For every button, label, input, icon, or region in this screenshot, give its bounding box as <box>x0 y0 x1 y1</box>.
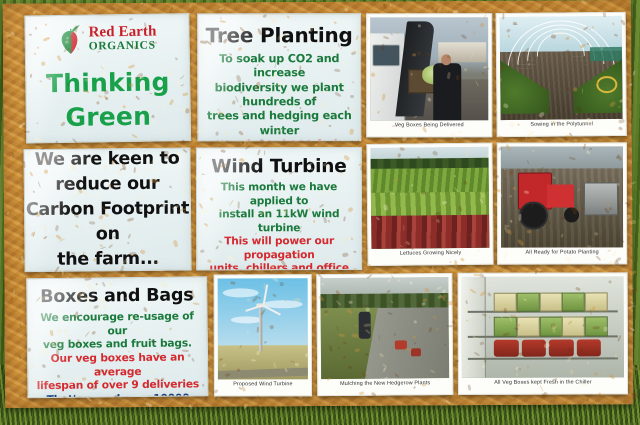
board-texture-flake <box>7 37 11 41</box>
board-texture-flake <box>132 11 134 13</box>
board-texture-flake <box>19 394 21 396</box>
board-texture-flake <box>11 31 15 35</box>
sign-tree-planting: Tree Planting To soak up CO2 and increas… <box>197 13 361 141</box>
board-texture-flake <box>586 397 590 401</box>
board-texture-flake <box>567 399 573 405</box>
board-texture-flake <box>19 354 24 358</box>
thinking-green-headline: Thinking Green <box>26 65 190 135</box>
photo-caption: All Veg Boxes kept Fresh in the Chiller <box>458 377 628 388</box>
photo-tractor-image <box>501 146 623 247</box>
board-texture-flake <box>188 4 192 8</box>
board-texture-flake <box>131 399 135 405</box>
board-texture-flake <box>445 400 451 405</box>
notice-board: Red Earth ORGANICS Thinking Green Tree P… <box>3 0 633 408</box>
board-texture-flake <box>592 265 595 268</box>
photo-veg-boxes-delivery: Veg Boxes Being Delivered <box>366 13 492 137</box>
photo-caption: Sowing in the Polytunnel <box>496 119 627 131</box>
board-texture-flake <box>122 273 124 276</box>
photo-proposed-wind-turbine: Proposed Wind Turbine <box>214 274 312 396</box>
board-texture-flake <box>8 229 11 231</box>
board-texture-flake <box>537 267 542 271</box>
board-texture-flake <box>54 401 57 403</box>
board-texture-flake <box>434 400 436 403</box>
board-texture-flake <box>5 168 8 171</box>
board-texture-flake <box>9 68 12 72</box>
wind-turbine-title: Wind Turbine <box>200 156 358 177</box>
wind-turbine-line-1: This month we have applied to <box>200 181 358 209</box>
board-texture-flake <box>440 266 445 271</box>
headline-line-2: Green <box>27 99 190 135</box>
board-texture-flake <box>58 143 63 148</box>
board-texture-flake <box>390 3 392 7</box>
sign-wind-turbine: Wind Turbine This month we have applied … <box>196 147 362 270</box>
board-texture-flake <box>526 137 528 139</box>
photo-caption: Mulching the New Hedgerow Plants <box>316 378 453 390</box>
board-texture-flake <box>98 400 103 404</box>
board-texture-flake <box>581 0 588 6</box>
board-texture-flake <box>493 23 495 28</box>
photo-lettuces: Lettuces Growing Nicely <box>366 143 493 266</box>
board-texture-flake <box>482 265 488 267</box>
photo-caption: All Ready for Potato Planting <box>497 247 627 258</box>
photo-hedgerow-mulching: Mulching the New Hedgerow Plants <box>316 273 453 396</box>
board-texture-flake <box>504 265 507 269</box>
photo-polytunnel-image <box>500 16 623 120</box>
board-texture-flake <box>219 7 224 10</box>
boxes-line-5: That's saved over 10000 boxes <box>32 391 203 398</box>
photo-hedge-image <box>320 277 449 379</box>
photo-polytunnel-sowing: Sowing in the Polytunnel <box>496 12 627 137</box>
board-texture-flake <box>454 137 457 140</box>
photo-lettuces-image <box>370 147 489 249</box>
board-texture-flake <box>113 2 116 8</box>
board-texture-flake <box>265 402 271 406</box>
board-texture-flake <box>556 396 563 400</box>
scene: Red Earth ORGANICS Thinking Green Tree P… <box>0 0 640 425</box>
board-texture-flake <box>19 122 26 128</box>
sign-boxes-and-bags: Boxes and Bags We encourage re-usage of … <box>26 276 208 398</box>
board-texture-flake <box>5 35 11 38</box>
board-texture-flake <box>428 137 434 143</box>
board-texture-flake <box>7 211 10 214</box>
carbon-line-3: Carbon Footprint on <box>25 197 190 248</box>
tree-planting-line-1: To soak up CO2 and increase <box>202 52 356 81</box>
board-texture-flake <box>18 355 21 359</box>
board-texture-flake <box>385 10 387 12</box>
tree-planting-line-4: We planted 100 fruit trees in a <box>202 138 356 141</box>
board-texture-flake <box>13 289 15 295</box>
board-texture-flake <box>505 267 512 272</box>
board-texture-flake <box>11 152 14 158</box>
board-texture-flake <box>458 3 464 6</box>
photo-caption: Lettuces Growing Nicely <box>366 247 493 259</box>
logo-wordmark: Red Earth ORGANICS <box>88 25 156 54</box>
board-texture-flake <box>6 387 10 390</box>
photo-potato-planting: All Ready for Potato Planting <box>497 142 627 264</box>
board-texture-flake <box>448 396 452 400</box>
board-texture-flake <box>139 2 144 7</box>
board-texture-flake <box>110 7 115 10</box>
board-texture-flake <box>312 315 315 318</box>
photo-turbine-image <box>218 278 308 379</box>
tree-planting-title: Tree Planting <box>202 23 356 47</box>
board-texture-flake <box>540 5 545 12</box>
carbon-line-2: reduce our <box>25 172 190 198</box>
board-texture-flake <box>215 397 218 401</box>
board-texture-flake <box>191 9 195 15</box>
logo-brand-green: ORGANICS <box>89 41 157 54</box>
photo-caption: Proposed Wind Turbine <box>214 379 312 389</box>
board-texture-flake <box>435 396 438 398</box>
headline-line-1: Thinking <box>26 65 189 101</box>
board-texture-flake <box>239 142 241 145</box>
boxes-line-3: Our veg boxes have an average <box>32 350 203 379</box>
wind-turbine-line-2: install an 11kW wind turbine <box>200 208 358 236</box>
wind-turbine-line-4: units, chillers and office <box>200 262 358 270</box>
boxes-and-bags-title: Boxes and Bags <box>31 285 202 307</box>
board-texture-flake <box>431 266 434 272</box>
board-texture-flake <box>382 3 388 10</box>
photo-chiller-image <box>462 276 624 378</box>
carbon-footprint-text: We are keen to reduce our Carbon Footpri… <box>24 147 190 272</box>
board-texture-flake <box>565 138 569 141</box>
boxes-line-1: We encourage re-usage of our <box>32 309 203 338</box>
photo-caption: Veg Boxes Being Delivered <box>366 120 492 130</box>
board-texture-flake <box>21 81 24 86</box>
board-texture-flake <box>10 296 14 300</box>
red-earth-organics-logo: Red Earth ORGANICS <box>25 23 188 55</box>
wind-turbine-line-3: This will power our propagation <box>200 235 358 263</box>
sign-thinking-green: Red Earth ORGANICS Thinking Green <box>24 13 191 143</box>
carbon-line-1: We are keen to <box>24 147 189 173</box>
board-texture-flake <box>6 39 11 46</box>
board-texture-flake <box>34 11 36 14</box>
board-texture-flake <box>455 400 459 403</box>
board-texture-flake <box>20 323 23 329</box>
board-texture-flake <box>151 4 155 7</box>
tree-planting-line-2: biodiversity we plant hundreds of <box>202 81 356 110</box>
board-texture-flake <box>203 396 207 400</box>
board-texture-flake <box>430 5 434 9</box>
board-texture-flake <box>513 398 518 401</box>
board-texture-flake <box>344 8 349 12</box>
logo-brand-red: Red Earth <box>88 25 156 41</box>
tree-planting-line-3: trees and hedging each winter <box>202 109 356 138</box>
leaf-beetroot-icon <box>57 25 83 55</box>
carbon-line-4: the farm... <box>25 246 190 272</box>
board-texture-flake <box>430 398 433 403</box>
photo-van-image <box>370 17 488 120</box>
photo-chiller: All Veg Boxes kept Fresh in the Chiller <box>458 272 628 395</box>
sign-carbon-footprint: We are keen to reduce our Carbon Footpri… <box>23 147 191 272</box>
